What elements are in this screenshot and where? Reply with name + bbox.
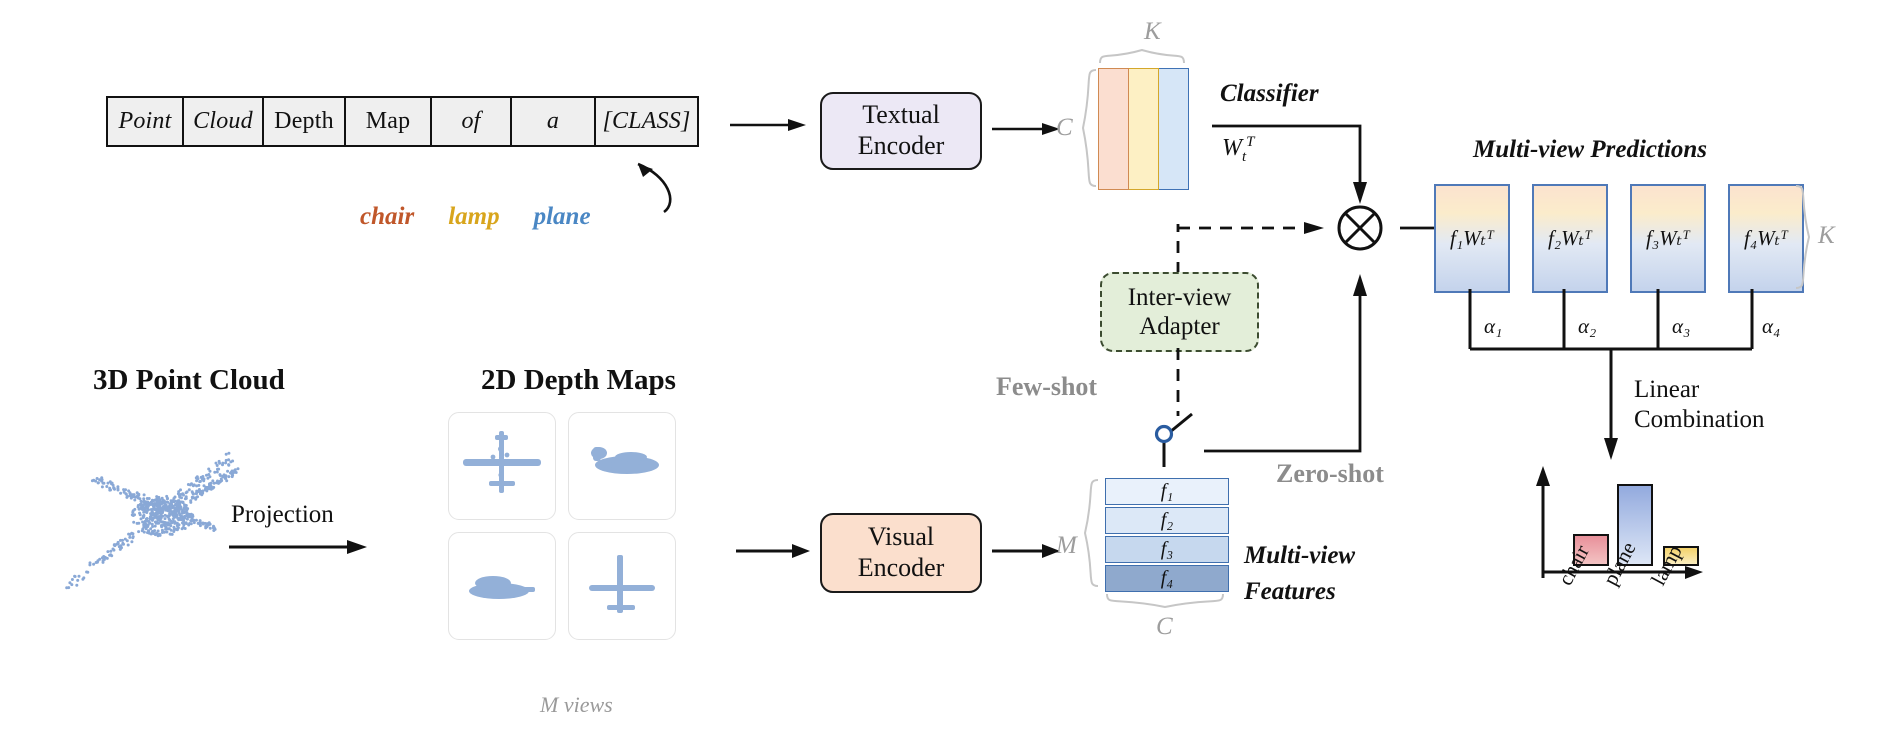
arrow-to-bar-chart [1604,396,1618,462]
chair-column [1098,68,1129,190]
prediction-box-1: f₁Wₜᵀ [1434,184,1510,293]
prediction-box-4: f₄Wₜᵀ [1728,184,1804,293]
features-caption-line2: Features [1244,578,1336,606]
lamp-column [1129,68,1159,190]
depth-map-view-3[interactable] [448,532,556,640]
textual-encoder-line1: Textual [862,100,940,131]
brace-K-predictions [1794,184,1812,290]
textual-encoder-line2: Encoder [858,131,945,162]
alpha-2-label: α₂ [1578,314,1596,339]
predictions-dim-K: K [1818,222,1835,250]
multi-view-feature-stack: f₁f₂f₃f₄ [1105,478,1229,592]
class-curve-arrow [560,150,690,220]
textual-encoder-block[interactable]: Textual Encoder [820,92,982,170]
arrow-visual-encoder-to-features [992,544,1062,558]
prediction-box-3: f₃Wₜᵀ [1630,184,1706,293]
features-dim-M: M [1056,532,1077,560]
plane-column [1159,68,1189,190]
arrow-depthmaps-to-visual-encoder [736,544,812,558]
brace-C-left [1080,68,1098,188]
features-caption-line1: Multi-view [1244,542,1355,570]
classifier-dim-C: C [1056,114,1073,142]
arrow-textual-encoder-to-classifier [992,123,1062,135]
class-word-lamp[interactable]: lamp [448,203,499,231]
visual-encoder-block[interactable]: Visual Encoder [820,513,982,593]
visual-encoder-line2: Encoder [858,553,945,584]
feature-row-2: f₂ [1105,507,1229,534]
zero-shot-label: Zero-shot [1276,459,1384,489]
depth-maps-title: 2D Depth Maps [481,364,676,397]
depth-view-4-svg [569,533,675,639]
depth-map-grid [448,412,674,638]
depth-map-view-4[interactable] [568,532,676,640]
alpha-4-label: α₄ [1762,314,1780,339]
brace-M-left [1082,478,1100,588]
projection-label: Projection [231,501,334,529]
depth-view-3-svg [449,533,555,639]
m-views-caption: M views [540,692,613,718]
alpha-3-label: α₃ [1672,314,1690,339]
arrow-zeroshot-to-operator [1164,258,1364,453]
class-word-chair[interactable]: chair [360,203,414,231]
prompt-token-3[interactable]: Depth [264,98,346,145]
point-cloud-title: 3D Point Cloud [93,364,285,397]
depth-view-1-svg [449,413,555,519]
dashed-arrow-adapter-to-operator [1178,222,1328,234]
feature-row-3: f₃ [1105,536,1229,563]
matrix-multiply-icon [1330,198,1390,258]
feature-row-1: f₁ [1105,478,1229,505]
alpha-1-label: α₁ [1484,314,1502,339]
prompt-token-row: PointCloudDepthMapofa[CLASS] [106,96,699,147]
depth-view-2-svg [569,413,675,519]
prompt-token-5[interactable]: of [432,98,512,145]
linear-combination-line1: Linear [1634,376,1699,404]
arrow-classifier-to-operator [1212,124,1382,209]
classifier-matrix [1098,68,1189,188]
brace-C-bottom [1105,592,1227,610]
features-dim-C: C [1156,613,1173,641]
feature-row-4: f₄ [1105,565,1229,592]
depth-map-view-1[interactable] [448,412,556,520]
prompt-token-1[interactable]: Point [108,98,184,145]
multi-view-predictions-title: Multi-view Predictions [1473,136,1707,164]
prompt-token-7[interactable]: [CLASS] [596,98,697,145]
prompt-token-4[interactable]: Map [346,98,432,145]
linear-combination-line2: Combination [1634,406,1765,434]
arrow-projection [229,540,369,554]
classifier-title: Classifier [1220,80,1319,108]
multi-view-prediction-boxes: f₁Wₜᵀf₂Wₜᵀf₃Wₜᵀf₄Wₜᵀ [1434,184,1804,293]
class-word-list: chairlampplane [360,203,591,231]
arrow-prompt-to-textual-encoder [730,119,808,131]
alpha-combination-tree [1434,289,1774,399]
few-shot-label: Few-shot [996,372,1097,402]
classifier-dim-K: K [1144,18,1161,46]
prompt-token-2[interactable]: Cloud [184,98,264,145]
prediction-box-2: f₂Wₜᵀ [1532,184,1608,293]
prompt-token-6[interactable]: a [512,98,596,145]
visual-encoder-line1: Visual [868,522,934,553]
depth-map-view-2[interactable] [568,412,676,520]
brace-K-top [1098,47,1188,65]
